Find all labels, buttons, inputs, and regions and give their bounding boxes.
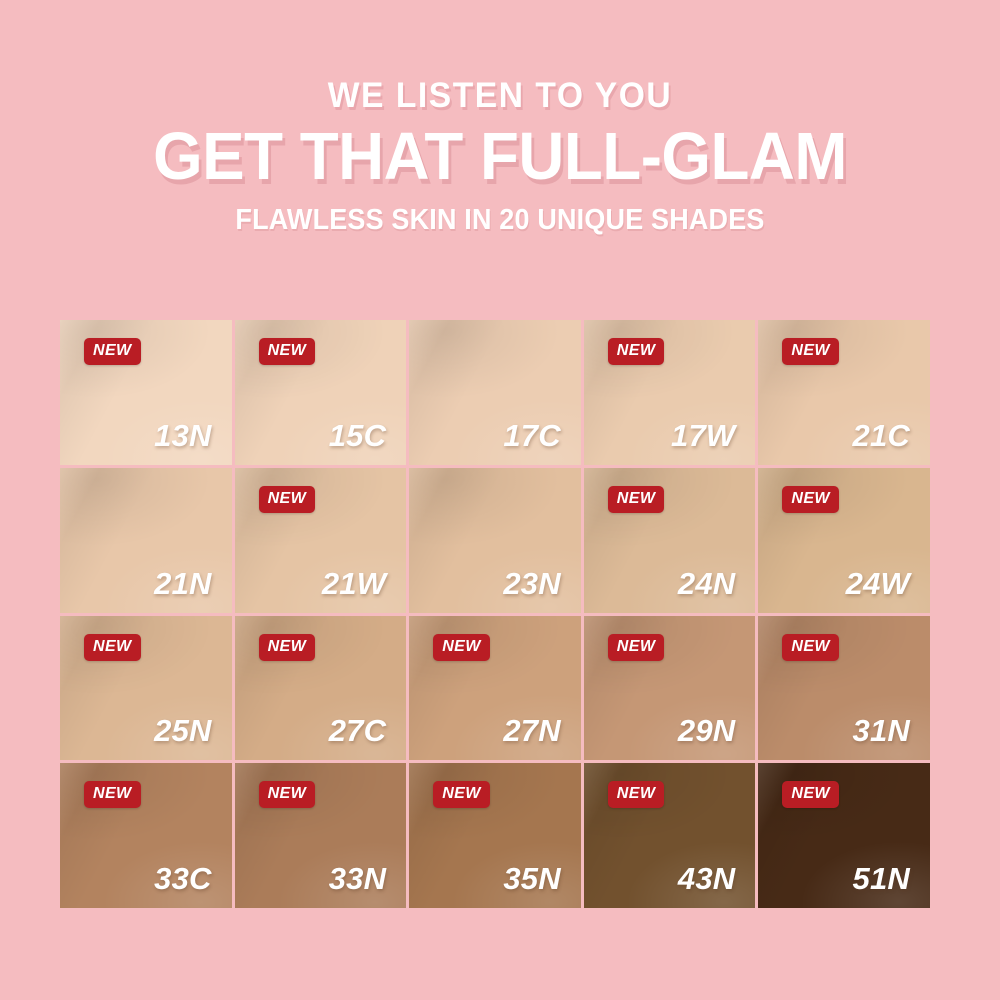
shade-code-label: 23N: [503, 568, 560, 599]
new-badge: NEW: [608, 781, 665, 808]
shade-code-label: 51N: [853, 863, 910, 894]
shade-swatch[interactable]: NEW13N: [60, 320, 232, 465]
shade-code-label: 17W: [671, 420, 735, 451]
shade-swatch[interactable]: NEW27C: [235, 616, 407, 761]
shade-swatch[interactable]: NEW17C: [409, 320, 581, 465]
shade-code-label: 15C: [329, 420, 386, 451]
new-badge: NEW: [433, 634, 490, 661]
shade-code-label: 33C: [154, 863, 211, 894]
new-badge: NEW: [782, 338, 839, 365]
shade-swatch[interactable]: NEW17W: [584, 320, 756, 465]
new-badge: NEW: [608, 486, 665, 513]
promo-banner: WE LISTEN TO YOU GET THAT FULL-GLAM FLAW…: [0, 0, 1000, 1000]
new-badge: NEW: [259, 486, 316, 513]
shade-code-label: 27N: [503, 715, 560, 746]
new-badge: NEW: [782, 781, 839, 808]
eyebrow-text: WE LISTEN TO YOU: [20, 78, 980, 113]
new-badge: NEW: [84, 338, 141, 365]
shade-swatch[interactable]: NEW27N: [409, 616, 581, 761]
shade-swatch[interactable]: NEW24N: [584, 468, 756, 613]
shade-swatch[interactable]: NEW25N: [60, 616, 232, 761]
shade-swatch[interactable]: NEW24W: [758, 468, 930, 613]
shade-swatch[interactable]: NEW33C: [60, 763, 232, 908]
new-badge: NEW: [608, 338, 665, 365]
shade-code-label: 24W: [846, 568, 910, 599]
shade-code-label: 35N: [503, 863, 560, 894]
shade-swatch[interactable]: NEW21C: [758, 320, 930, 465]
shade-swatch[interactable]: NEW31N: [758, 616, 930, 761]
shade-code-label: 33N: [329, 863, 386, 894]
shade-swatch[interactable]: NEW51N: [758, 763, 930, 908]
shade-swatch[interactable]: NEW15C: [235, 320, 407, 465]
shade-swatch[interactable]: NEW43N: [584, 763, 756, 908]
shade-code-label: 24N: [678, 568, 735, 599]
shade-grid: NEW13NNEW15CNEW17CNEW17WNEW21CNEW21NNEW2…: [60, 320, 930, 908]
new-badge: NEW: [259, 634, 316, 661]
new-badge: NEW: [259, 338, 316, 365]
shade-swatch[interactable]: NEW35N: [409, 763, 581, 908]
shade-swatch[interactable]: NEW23N: [409, 468, 581, 613]
header-block: WE LISTEN TO YOU GET THAT FULL-GLAM FLAW…: [0, 78, 1000, 235]
headline-text: GET THAT FULL-GLAM: [25, 123, 975, 190]
shade-code-label: 43N: [678, 863, 735, 894]
new-badge: NEW: [782, 634, 839, 661]
new-badge: NEW: [84, 634, 141, 661]
shade-code-label: 21N: [154, 568, 211, 599]
shade-code-label: 21C: [853, 420, 910, 451]
shade-code-label: 13N: [154, 420, 211, 451]
shade-code-label: 25N: [154, 715, 211, 746]
shade-swatch[interactable]: NEW33N: [235, 763, 407, 908]
new-badge: NEW: [782, 486, 839, 513]
new-badge: NEW: [608, 634, 665, 661]
shade-code-label: 27C: [329, 715, 386, 746]
shade-code-label: 29N: [678, 715, 735, 746]
subline-text: FLAWLESS SKIN IN 20 UNIQUE SHADES: [35, 206, 965, 235]
new-badge: NEW: [433, 781, 490, 808]
shade-code-label: 31N: [853, 715, 910, 746]
shade-code-label: 17C: [503, 420, 560, 451]
shade-code-label: 21W: [322, 568, 386, 599]
shade-swatch[interactable]: NEW29N: [584, 616, 756, 761]
new-badge: NEW: [259, 781, 316, 808]
new-badge: NEW: [84, 781, 141, 808]
shade-swatch[interactable]: NEW21N: [60, 468, 232, 613]
shade-swatch[interactable]: NEW21W: [235, 468, 407, 613]
